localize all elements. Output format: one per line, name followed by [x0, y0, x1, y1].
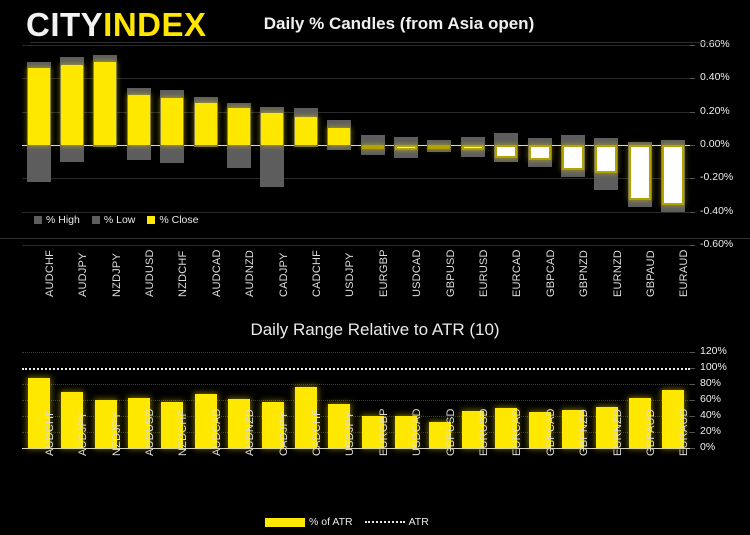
y-tick-mark	[690, 368, 695, 369]
candle-body	[28, 68, 50, 145]
x-tick-label: EURUSD	[478, 249, 490, 297]
candle-column	[289, 45, 322, 245]
candle-column	[456, 45, 489, 245]
y-tick-label: 0.40%	[700, 71, 730, 83]
y-tick-label: -0.20%	[700, 171, 733, 183]
x-tick-label: USDCAD	[411, 408, 423, 456]
candle-body	[595, 145, 617, 173]
legend-item-1: % of ATR	[265, 516, 353, 528]
x-tick-label: GBPUSD	[445, 408, 457, 456]
chart1-title: Daily % Candles (from Asia open)	[0, 14, 750, 34]
y-tick-mark	[690, 178, 695, 179]
screenshot-root: CITYINDEX Daily % Candles (from Asia ope…	[0, 0, 750, 535]
y-tick-mark	[690, 448, 695, 449]
candle-column	[556, 45, 589, 245]
x-tick-label: EURAUD	[678, 408, 690, 456]
x-tick-label: EURGBP	[378, 249, 390, 297]
x-tick-label: AUDNZD	[244, 250, 256, 297]
candle-body	[61, 65, 83, 145]
chart2-title: Daily Range Relative to ATR (10)	[0, 320, 750, 340]
candle-column	[523, 45, 556, 245]
x-tick-label: USDJPY	[344, 411, 356, 456]
x-tick-label: NZDJPY	[111, 253, 123, 297]
legend-swatch	[34, 216, 42, 224]
legend-item-2: ATR	[365, 516, 429, 528]
candle-body	[629, 145, 651, 200]
y-tick-label: 0.60%	[700, 38, 730, 50]
candle-body	[529, 145, 551, 160]
candle-chart-legend: % High% Low% Close	[34, 214, 198, 226]
x-tick-label: NZDCHF	[177, 251, 189, 297]
x-tick-label: EURGBP	[378, 408, 390, 456]
candle-body	[94, 62, 116, 145]
y-tick-label: 0%	[700, 441, 715, 453]
y-tick-mark	[690, 145, 695, 146]
legend-label: % Low	[104, 214, 136, 226]
divider-top	[0, 238, 750, 239]
legend-item-3: % Close	[147, 214, 198, 226]
x-tick-label: AUDUSD	[144, 408, 156, 456]
x-tick-label: GBPUSD	[445, 249, 457, 297]
x-tick-label: USDJPY	[344, 252, 356, 297]
gridline	[22, 245, 690, 246]
x-tick-label: EURAUD	[678, 249, 690, 297]
x-tick-label: NZDJPY	[111, 412, 123, 456]
x-tick-label: GBPNZD	[578, 250, 590, 297]
x-tick-label: GBPAUD	[645, 250, 657, 297]
x-tick-label: AUDUSD	[144, 249, 156, 297]
legend-item-2: % Low	[92, 214, 136, 226]
x-tick-label: CADCHF	[311, 409, 323, 456]
x-tick-label: EURNZD	[612, 409, 624, 456]
candle-column	[222, 45, 255, 245]
divider-header	[30, 42, 720, 43]
candle-body	[395, 145, 417, 150]
y-tick-label: 120%	[700, 345, 727, 357]
y-tick-label: -0.60%	[700, 238, 733, 250]
x-tick-label: CADJPY	[278, 252, 290, 297]
candle-body	[228, 108, 250, 145]
atr-chart-legend: % of ATRATR	[265, 516, 429, 528]
candle-column	[657, 45, 690, 245]
y-tick-mark	[690, 352, 695, 353]
candle-body	[161, 98, 183, 145]
y-tick-mark	[690, 45, 695, 46]
y-tick-mark	[690, 112, 695, 113]
x-tick-label: AUDJPY	[77, 411, 89, 456]
atr-reference-line	[22, 368, 690, 370]
y-tick-mark	[690, 416, 695, 417]
y-tick-label: 60%	[700, 393, 721, 405]
candle-column	[389, 45, 422, 245]
legend-label: % High	[46, 214, 80, 226]
x-tick-label: EURUSD	[478, 408, 490, 456]
candle-body	[562, 145, 584, 170]
candle-column	[623, 45, 656, 245]
x-tick-label: EURNZD	[612, 250, 624, 297]
candle-body	[662, 145, 684, 205]
y-tick-mark	[690, 212, 695, 213]
y-tick-label: 80%	[700, 377, 721, 389]
y-tick-label: 20%	[700, 425, 721, 437]
candle-column	[323, 45, 356, 245]
legend-swatch	[365, 521, 405, 523]
y-tick-label: 0.20%	[700, 105, 730, 117]
candle-column	[356, 45, 389, 245]
y-tick-mark	[690, 245, 695, 246]
x-tick-label: GBPAUD	[645, 409, 657, 456]
candle-body	[462, 145, 484, 150]
x-tick-label: AUDNZD	[244, 409, 256, 456]
candle-body	[195, 103, 217, 145]
gridline	[22, 352, 690, 353]
x-tick-label: EURCAD	[511, 249, 523, 297]
x-tick-label: EURCAD	[511, 408, 523, 456]
legend-swatch	[92, 216, 100, 224]
candle-column	[256, 45, 289, 245]
x-tick-label: GBPCAD	[545, 249, 557, 297]
candle-body	[128, 95, 150, 145]
candle-body	[261, 113, 283, 145]
legend-label: % Close	[159, 214, 198, 226]
x-tick-label: AUDCHF	[44, 250, 56, 297]
gridline	[22, 400, 690, 401]
candle-column	[590, 45, 623, 245]
candle-body	[295, 117, 317, 145]
y-tick-mark	[690, 432, 695, 433]
candle-body	[495, 145, 517, 158]
y-tick-label: 100%	[700, 361, 727, 373]
x-tick-label: AUDCAD	[211, 408, 223, 456]
y-tick-label: -0.40%	[700, 205, 733, 217]
legend-swatch	[147, 216, 155, 224]
legend-item-1: % High	[34, 214, 80, 226]
gridline	[22, 384, 690, 385]
y-tick-label: 0.00%	[700, 138, 730, 150]
y-tick-mark	[690, 400, 695, 401]
x-tick-label: AUDCAD	[211, 249, 223, 297]
legend-swatch	[265, 518, 305, 527]
y-tick-mark	[690, 78, 695, 79]
header: CITYINDEX Daily % Candles (from Asia ope…	[0, 0, 750, 44]
x-tick-label: AUDJPY	[77, 252, 89, 297]
candle-column	[423, 45, 456, 245]
x-tick-label: GBPCAD	[545, 408, 557, 456]
x-tick-label: USDCAD	[411, 249, 423, 297]
x-tick-label: GBPNZD	[578, 409, 590, 456]
legend-label: ATR	[409, 516, 429, 528]
candle-body	[362, 145, 384, 149]
x-tick-label: CADJPY	[278, 411, 290, 456]
candle-body	[328, 128, 350, 145]
x-tick-label: NZDCHF	[177, 410, 189, 456]
candle-body	[428, 145, 450, 149]
candle-column	[490, 45, 523, 245]
x-tick-label: CADCHF	[311, 250, 323, 297]
x-tick-label: AUDCHF	[44, 409, 56, 456]
legend-label: % of ATR	[309, 516, 353, 528]
y-tick-mark	[690, 384, 695, 385]
y-tick-label: 40%	[700, 409, 721, 421]
